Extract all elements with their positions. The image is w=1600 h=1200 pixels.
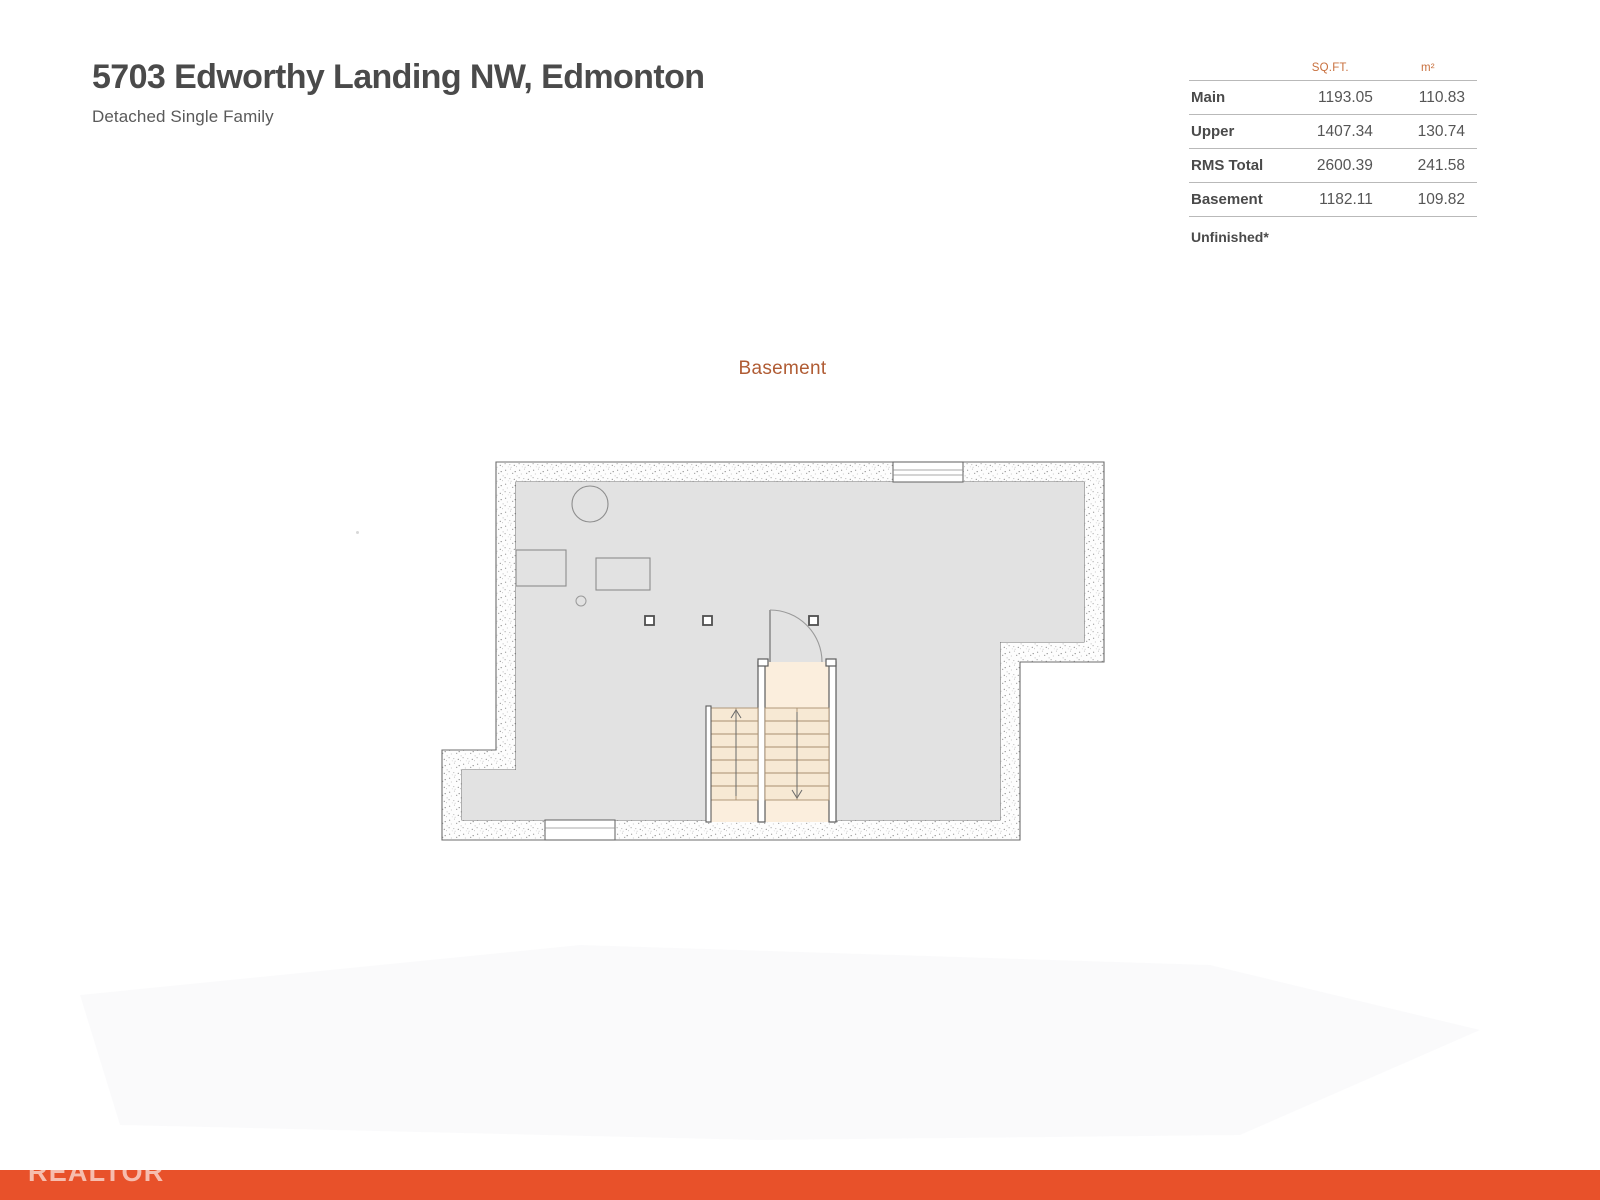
area-table-col-sqft: SQ.FT. [1288, 62, 1391, 81]
watermark-shape [60, 935, 1500, 1150]
area-table-header-row: SQ.FT. m² [1189, 62, 1477, 81]
area-row-label: Main [1189, 81, 1288, 115]
area-row-sqft: 2600.39 [1288, 149, 1391, 183]
table-row: Basement 1182.11 109.82 [1189, 183, 1477, 217]
support-post-icon [645, 616, 654, 625]
area-row-m2: 110.83 [1391, 81, 1477, 115]
area-table-col-blank [1189, 62, 1288, 81]
area-row-sqft: 1407.34 [1288, 115, 1391, 149]
area-table-col-m2: m² [1391, 62, 1477, 81]
floor-plan-drawing [420, 440, 1130, 860]
area-table-body: Main 1193.05 110.83 Upper 1407.34 130.74… [1189, 81, 1477, 218]
page-header: 5703 Edworthy Landing NW, Edmonton Detac… [92, 58, 992, 127]
area-table-note: Unfinished* [1191, 229, 1269, 245]
support-post-icon [703, 616, 712, 625]
area-summary-table: SQ.FT. m² Main 1193.05 110.83 Upper 1407… [1189, 62, 1477, 217]
area-row-m2: 109.82 [1391, 183, 1477, 217]
background-watermark [60, 935, 1500, 1150]
window-bottom [545, 820, 615, 840]
bottom-banner [0, 1170, 1600, 1200]
area-row-label: Basement [1189, 183, 1288, 217]
area-row-sqft: 1182.11 [1288, 183, 1391, 217]
table-row: Upper 1407.34 130.74 [1189, 115, 1477, 149]
floor-plan-label: Basement [0, 358, 1565, 380]
support-post-icon [809, 616, 818, 625]
area-row-label: Upper [1189, 115, 1288, 149]
stray-artifact-dot [356, 531, 359, 534]
table-row-rule [1189, 217, 1477, 218]
realtor-watermark-text: REALTOR [28, 1159, 164, 1186]
area-row-m2: 130.74 [1391, 115, 1477, 149]
floor-plan-svg [420, 440, 1130, 860]
area-row-sqft: 1193.05 [1288, 81, 1391, 115]
page-title: 5703 Edworthy Landing NW, Edmonton [92, 58, 992, 97]
window-top [893, 462, 963, 482]
table-row: RMS Total 2600.39 241.58 [1189, 149, 1477, 183]
page-subtitle: Detached Single Family [92, 107, 992, 127]
area-row-label: RMS Total [1189, 149, 1288, 183]
table-row: Main 1193.05 110.83 [1189, 81, 1477, 115]
area-row-m2: 241.58 [1391, 149, 1477, 183]
area-table-head: SQ.FT. m² [1189, 62, 1477, 81]
stair-run-down [765, 708, 829, 800]
